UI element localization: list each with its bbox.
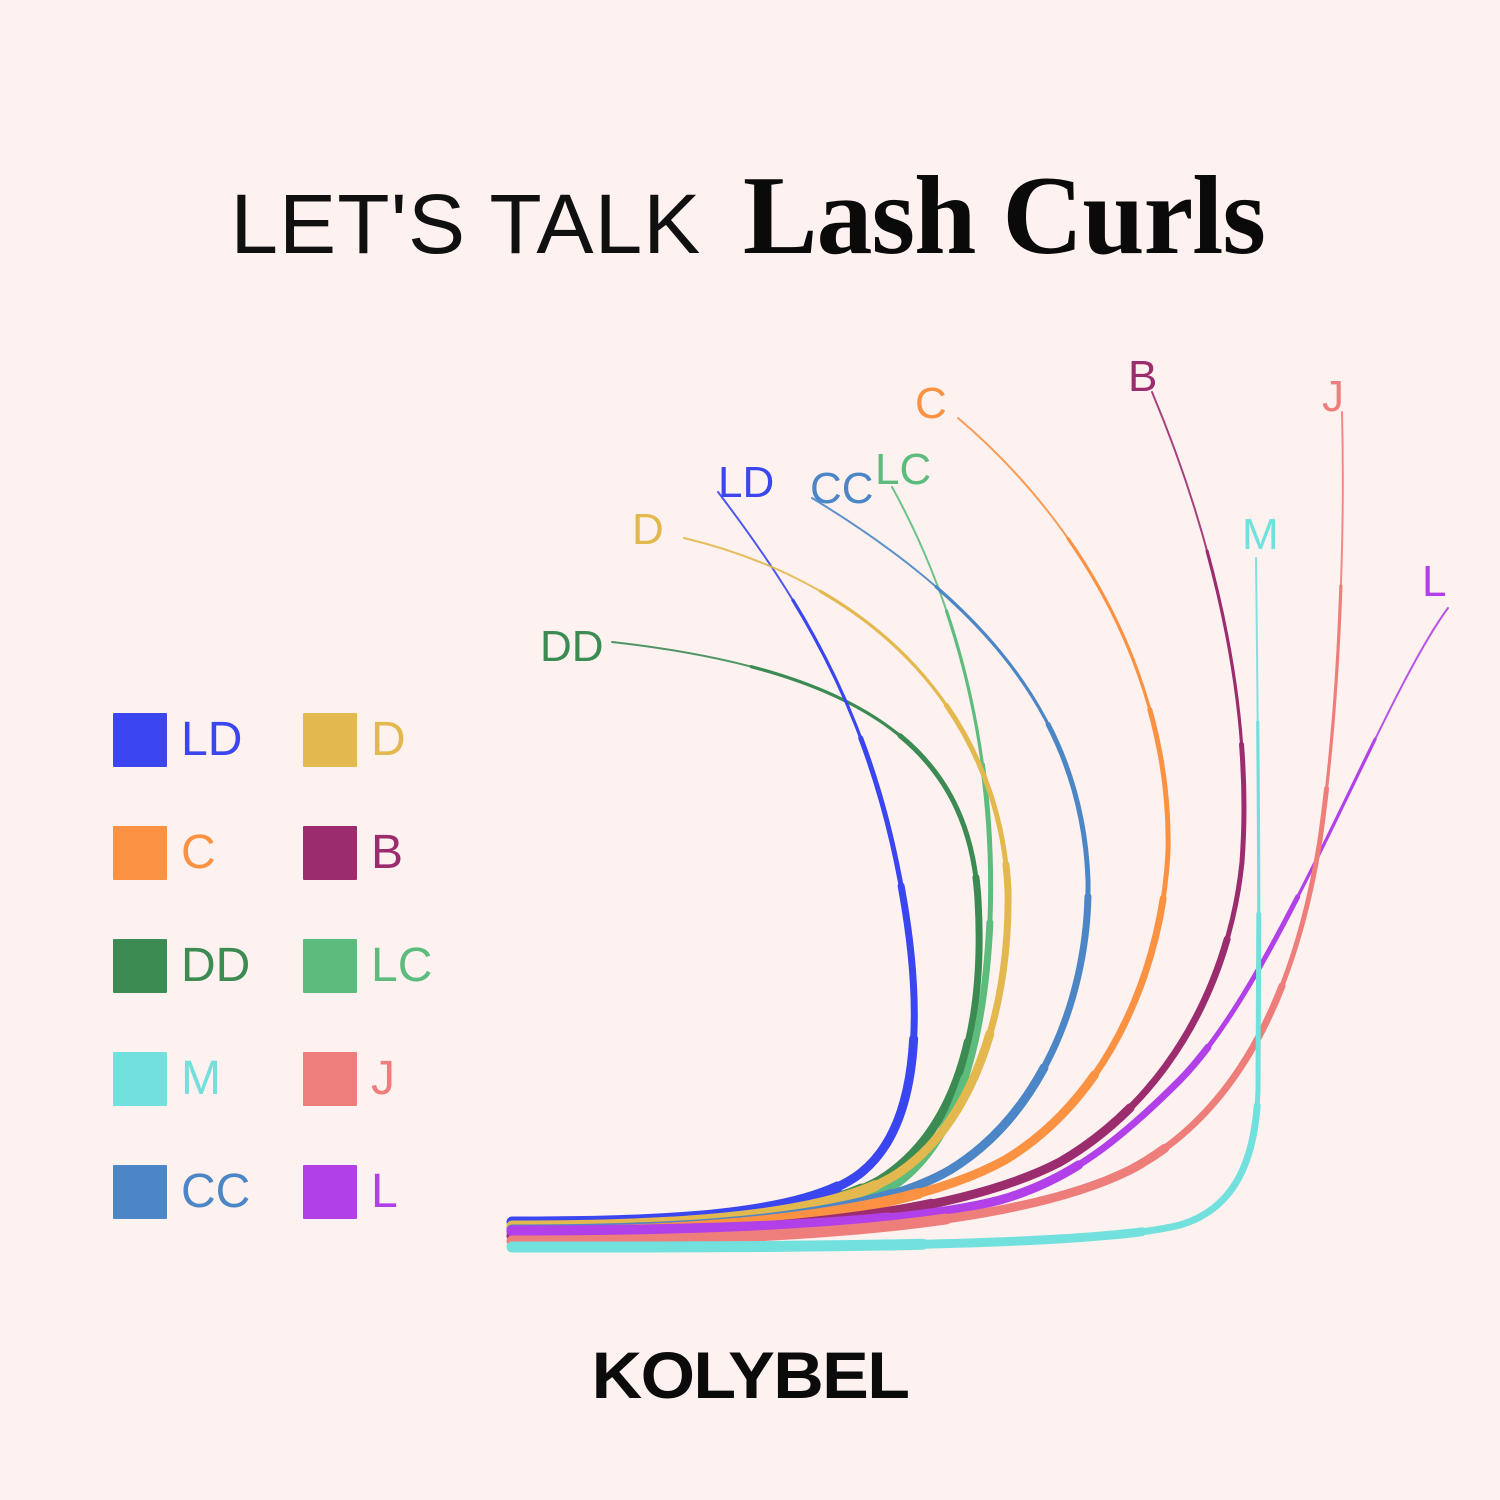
curve-lc [512,487,991,1233]
legend-label-cc: CC [181,1168,250,1216]
curve-lc [512,487,991,1233]
legend-swatch-ld [113,713,167,767]
legend-item-m[interactable]: M [113,1051,303,1107]
legend-swatch-c [113,826,167,880]
curve-label-c: C [915,382,947,426]
curve-lc [512,487,991,1233]
legend-item-d[interactable]: D [303,712,493,768]
legend-label-j: J [371,1055,395,1103]
legend-item-ld[interactable]: LD [113,712,303,768]
curve-cc [512,498,1088,1230]
curve-cc [512,498,1088,1230]
legend-item-j[interactable]: J [303,1051,493,1107]
curve-ld [512,492,914,1222]
curve-lc [512,487,991,1233]
curve-label-j: J [1322,375,1344,419]
curve-label-cc: CC [810,467,874,511]
curve-cc [512,498,1088,1230]
curve-ld [512,492,914,1222]
curve-label-dd: DD [540,625,604,669]
legend-swatch-m [113,1052,167,1106]
curve-cc [512,498,1088,1230]
legend-swatch-l [303,1165,357,1219]
legend-label-b: B [371,829,403,877]
curve-ld [512,492,914,1222]
legend-swatch-lc [303,939,357,993]
legend-label-dd: DD [181,942,250,990]
curve-label-ld: LD [718,461,774,505]
curve-cc [512,498,1088,1230]
legend-label-l: L [371,1168,398,1216]
curve-label-lc: LC [875,448,931,492]
legend-item-dd[interactable]: DD [113,938,303,994]
legend-label-c: C [181,829,216,877]
legend-item-c[interactable]: C [113,825,303,881]
curve-lc [512,487,991,1233]
legend-item-b[interactable]: B [303,825,493,881]
curve-label-m: M [1242,513,1279,557]
curve-ld [512,492,914,1222]
legend-label-ld: LD [181,716,242,764]
legend-item-cc[interactable]: CC [113,1164,303,1220]
curve-b [512,392,1244,1236]
legend-swatch-dd [113,939,167,993]
legend-swatch-j [303,1052,357,1106]
curve-label-b: B [1128,355,1157,399]
curve-ld [512,492,914,1222]
legend-label-m: M [181,1055,221,1103]
curve-lc [512,487,991,1233]
legend-item-lc[interactable]: LC [303,938,493,994]
legend-swatch-d [303,713,357,767]
legend-label-d: D [371,716,406,764]
curve-label-l: L [1422,560,1446,604]
legend-item-l[interactable]: L [303,1164,493,1220]
brand-logo: KOLYBEL [0,1337,1500,1413]
curve-label-d: D [632,508,664,552]
legend-swatch-cc [113,1165,167,1219]
infographic-canvas: LET'S TALK Lash Curls DDLDLCDCCCBLJM LD … [0,0,1500,1500]
curve-ld [512,492,914,1222]
legend: LD D C B DD LC M J [113,712,493,1277]
curve-cc [512,498,1088,1230]
legend-swatch-b [303,826,357,880]
legend-label-lc: LC [371,942,432,990]
